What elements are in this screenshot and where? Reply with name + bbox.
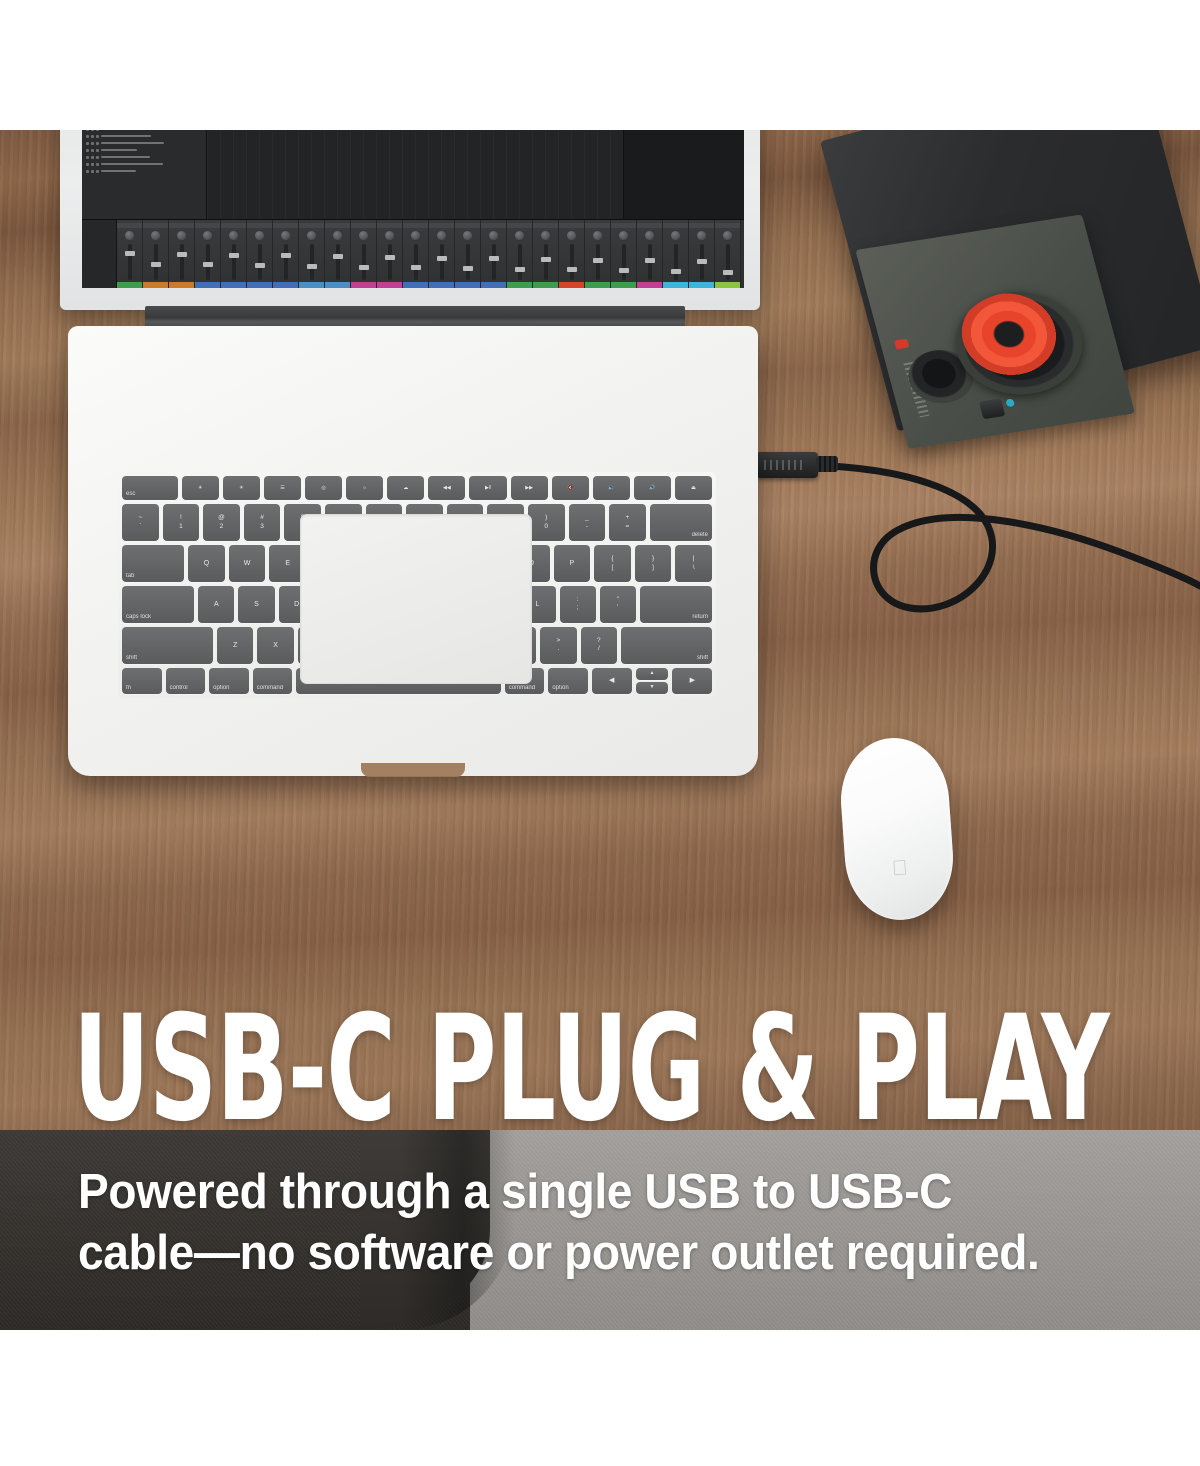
pan-knob[interactable] [463,231,472,240]
mouse-logo-icon:  [891,857,908,879]
keyboard-key-fn[interactable]: fn [122,668,162,694]
channel-label-bar [273,223,298,228]
daw-track-row[interactable] [84,140,204,146]
channel-label-bar [169,223,194,228]
daw-track-row[interactable] [84,161,204,167]
keyboard-key-w[interactable]: W [229,545,266,582]
fader-cap[interactable] [125,251,135,256]
pan-knob[interactable] [307,231,316,240]
volume-fader[interactable] [362,244,366,280]
keyboard-key-space[interactable]: _- [569,504,606,541]
keyboard-key-space[interactable]: |\ [675,545,712,582]
pan-knob[interactable] [255,231,264,240]
channel-label-bar [559,223,584,228]
mixer-channel-strip[interactable] [481,220,507,288]
channel-color-strip [533,282,558,288]
key-legend: {[ [611,555,613,573]
pan-knob[interactable] [177,231,186,240]
volume-fader[interactable] [310,244,314,280]
key-legend: >. [557,637,561,655]
keyboard-key-space[interactable]: ☀ [223,476,260,500]
pan-knob[interactable] [619,231,628,240]
fader-cap[interactable] [619,268,629,273]
fader-cap[interactable] [567,267,577,272]
volume-fader[interactable] [128,244,132,280]
mixer-channel-strip[interactable] [143,220,169,288]
keyboard-key-space[interactable]: ⏏ [675,476,712,500]
fader-cap[interactable] [541,257,551,262]
keyboard-key-option[interactable]: option [209,668,249,694]
daw-track-row[interactable] [84,147,204,153]
volume-fader[interactable] [388,244,392,280]
channel-color-strip [143,282,168,288]
volume-fader[interactable] [154,244,158,280]
laptop-screen [82,130,744,288]
channel-color-strip [611,282,636,288]
channel-color-strip [403,282,428,288]
fader-cap[interactable] [333,254,343,259]
key-legend: += [626,514,630,532]
fader-cap[interactable] [593,258,603,263]
fader-cap[interactable] [671,269,681,274]
key-legend: command [257,685,283,691]
keyboard-key-esc[interactable]: esc [122,476,178,500]
keyboard-key-0[interactable]: )0 [528,504,565,541]
key-legend: shift [697,655,708,661]
keyboard-key-space[interactable]: ◀◀ [428,476,465,500]
key-legend: "' [617,596,619,614]
mixer-channel-strip[interactable] [351,220,377,288]
channel-color-strip [195,282,220,288]
key-legend: delete [692,532,708,538]
keyboard-key-shift[interactable]: shift [122,627,213,664]
daw-notes-panel [623,130,744,219]
key-legend: !1 [179,514,183,532]
daw-track-row[interactable] [84,130,204,132]
fader-cap[interactable] [307,264,317,269]
keyboard-key-space[interactable]: ◎ [305,476,342,500]
key-legend: return [692,614,708,620]
key-legend: _- [585,514,589,532]
keyboard-key-command[interactable]: command [253,668,293,694]
keyboard-key-space[interactable]: 🔉 [593,476,630,500]
mixer-channel-strip[interactable] [429,220,455,288]
keyboard-key-shift[interactable]: shift [621,627,712,664]
fader-cap[interactable] [255,263,265,268]
volume-knob[interactable] [979,398,1006,419]
channel-color-strip [325,282,350,288]
laptop-lid [60,130,760,310]
keyboard-key-space[interactable]: ☼ [346,476,383,500]
key-legend: @2 [218,514,225,532]
mixer-channel-strip[interactable] [533,220,559,288]
channel-label-bar [377,223,402,228]
mixer-channel-strip[interactable] [169,220,195,288]
pan-knob[interactable] [385,231,394,240]
pan-knob[interactable] [541,231,550,240]
keyboard-key-delete[interactable]: delete [650,504,712,541]
daw-track-row[interactable] [84,133,204,139]
keyboard-key-space[interactable]: {[ [594,545,631,582]
pan-knob[interactable] [203,231,212,240]
pan-knob[interactable] [229,231,238,240]
pan-knob[interactable] [333,231,342,240]
key-legend: fn [126,685,131,691]
channel-color-strip [429,282,454,288]
pan-knob[interactable] [359,231,368,240]
volume-fader[interactable] [726,244,730,280]
keyboard-key-space[interactable]: ☀ [182,476,219,500]
fader-cap[interactable] [411,265,421,270]
channel-label-bar [117,223,142,228]
key-legend: control [170,685,188,691]
channel-label-bar [533,223,558,228]
fader-cap[interactable] [437,256,447,261]
mixer-channel-strip[interactable] [403,220,429,288]
pan-knob[interactable] [567,231,576,240]
pan-knob[interactable] [151,231,160,240]
keyboard-key-space[interactable]: ▶ [672,668,712,694]
mixer-channel-strip[interactable] [689,220,715,288]
channel-color-strip [351,282,376,288]
channel-color-strip [299,282,324,288]
pan-knob[interactable] [281,231,290,240]
volume-fader[interactable] [596,244,600,280]
mixer-channel-strip[interactable] [611,220,637,288]
fader-cap[interactable] [489,256,499,261]
power-led-icon [894,339,909,350]
keyboard-key-space[interactable]: ?/ [581,627,617,664]
volume-fader[interactable] [440,244,444,280]
channel-label-bar [585,223,610,228]
mixer-channel-strip[interactable] [455,220,481,288]
channel-label-bar [611,223,636,228]
daw-mixer[interactable] [82,219,744,288]
keyboard-key-2[interactable]: @2 [203,504,240,541]
keyboard-key-x[interactable]: X [257,627,293,664]
usb-c-cable [720,430,1200,670]
fader-cap[interactable] [515,267,525,272]
mixer-channel-strip[interactable] [637,220,663,288]
key-legend: caps lock [126,614,151,620]
headline: USB-C PLUG & PLAY [73,996,836,1142]
volume-fader[interactable] [648,244,652,280]
channel-label-bar [351,223,376,228]
channel-color-strip [247,282,272,288]
daw-application [82,130,744,288]
daw-track-row[interactable] [84,168,204,174]
keyboard-key-space[interactable]: "' [600,586,636,623]
daw-track-list[interactable] [82,130,207,219]
channel-color-strip [689,282,714,288]
key-legend: }] [652,555,654,573]
keyboard-key-space[interactable]: 🔇 [552,476,589,500]
keyboard-key-caps-lock[interactable]: caps lock [122,586,194,623]
channel-color-strip [637,282,662,288]
keyboard-key-space[interactable]: += [609,504,646,541]
channel-label-bar [455,223,480,228]
keyboard-key-down[interactable]: ▼ [636,682,669,694]
subtitle-line-1: Powered through a single USB to USB-C [78,1162,1121,1223]
key-legend: ?/ [597,637,601,655]
channel-label-bar [689,223,714,228]
channel-color-strip [559,282,584,288]
pan-knob[interactable] [125,231,134,240]
keyboard-key-return[interactable]: return [640,586,712,623]
keyboard-key-3[interactable]: #3 [244,504,281,541]
volume-fader[interactable] [258,244,262,280]
channel-label-bar [299,223,324,228]
keyboard-key-option[interactable]: option [548,668,588,694]
keyboard-key-a[interactable]: A [198,586,234,623]
channel-color-strip [273,282,298,288]
key-legend: |\ [693,555,695,573]
arrow-key-column: ▲▼ [636,668,669,694]
laptop-deck: esc☀☀☰◎☼☁◀◀▶‖▶▶🔇🔉🔊⏏~`!1@2#3$4%5^6&7*8(9)… [68,326,758,776]
channel-color-strip [221,282,246,288]
volume-fader[interactable] [674,244,678,280]
channel-label-bar [195,223,220,228]
key-legend: command [509,685,535,691]
channel-color-strip [585,282,610,288]
daw-arrange-window[interactable] [207,130,623,219]
pan-knob[interactable] [489,231,498,240]
channel-color-strip [455,282,480,288]
fader-cap[interactable] [385,255,395,260]
volume-fader[interactable] [180,244,184,280]
pan-knob[interactable] [723,231,732,240]
mixer-channel-strip[interactable] [299,220,325,288]
keyboard-key-q[interactable]: Q [188,545,225,582]
volume-fader[interactable] [518,244,522,280]
channel-color-strip [169,282,194,288]
keyboard-key-space[interactable]: }] [635,545,672,582]
key-legend: )0 [544,514,548,532]
mixer-channel-strip[interactable] [715,220,741,288]
mixer-channel-strip[interactable] [507,220,533,288]
volume-fader[interactable] [414,244,418,280]
fader-cap[interactable] [463,266,473,271]
channel-color-strip [663,282,688,288]
daw-track-row[interactable] [84,154,204,160]
keyboard-key-tab[interactable]: tab [122,545,184,582]
mixer-channel-strip[interactable] [377,220,403,288]
volume-fader[interactable] [284,244,288,280]
keyboard-key-space[interactable]: 🔊 [634,476,671,500]
channel-label-bar [507,223,532,228]
keyboard-key-space[interactable]: ◀ [592,668,632,694]
volume-fader[interactable] [700,244,704,280]
keyboard-key-space[interactable]: :; [560,586,596,623]
channel-label-bar [481,223,506,228]
channel-label-bar [715,223,740,228]
pan-knob[interactable] [411,231,420,240]
channel-label-bar [247,223,272,228]
channel-color-strip [715,282,740,288]
keyboard-key-s[interactable]: S [238,586,274,623]
keyboard-key-space[interactable]: ☰ [264,476,301,500]
channel-label-bar [325,223,350,228]
keyboard-key-p[interactable]: P [554,545,591,582]
key-legend: option [213,685,229,691]
volume-fader[interactable] [232,244,236,280]
volume-fader[interactable] [570,244,574,280]
key-legend: shift [126,655,137,661]
volume-fader[interactable] [622,244,626,280]
mixer-channel-strip[interactable] [663,220,689,288]
fader-cap[interactable] [359,265,369,270]
keyboard-key-space[interactable]: ☁ [387,476,424,500]
mixer-channel-strip[interactable] [273,220,299,288]
volume-fader[interactable] [492,244,496,280]
channel-label-bar [637,223,662,228]
subtitle-line-2: cable—no software or power outlet requir… [78,1223,1121,1284]
channel-color-strip [481,282,506,288]
keyboard-key-z[interactable]: Z [217,627,253,664]
channel-label-bar [403,223,428,228]
fader-cap[interactable] [177,252,187,257]
volume-fader[interactable] [336,244,340,280]
mixer-channel-strip[interactable] [585,220,611,288]
key-legend: :; [577,596,579,614]
mixer-channel-strip[interactable] [221,220,247,288]
deck-front-notch [361,763,465,777]
key-legend: esc [126,491,135,497]
channel-label-bar [663,223,688,228]
fader-cap[interactable] [645,258,655,263]
keyboard-key-1[interactable]: !1 [163,504,200,541]
key-legend: #3 [260,514,264,532]
fader-cap[interactable] [723,270,733,275]
channel-color-strip [117,282,142,288]
pan-knob[interactable] [593,231,602,240]
keyboard-key-space[interactable]: >. [540,627,576,664]
channel-label-bar [221,223,246,228]
keyboard-row: esc☀☀☰◎☼☁◀◀▶‖▶▶🔇🔉🔊⏏ [122,476,712,500]
mixer-master-strip[interactable] [82,220,117,288]
pan-knob[interactable] [671,231,680,240]
fader-cap[interactable] [281,253,291,258]
mixer-channel-strip[interactable] [247,220,273,288]
fader-cap[interactable] [697,259,707,264]
bluetooth-indicator-icon [1005,398,1015,407]
mixer-channel-strip[interactable] [559,220,585,288]
mixer-channel-strip[interactable] [325,220,351,288]
keyboard-key-control[interactable]: control [166,668,206,694]
subtitle: Powered through a single USB to USB-C ca… [78,1162,1121,1284]
pan-knob[interactable] [697,231,706,240]
laptop: esc☀☀☰◎☼☁◀◀▶‖▶▶🔇🔉🔊⏏~`!1@2#3$4%5^6&7*8(9)… [0,130,780,810]
fader-cap[interactable] [203,262,213,267]
keyboard-key-space[interactable]: ▶▶ [511,476,548,500]
channel-label-bar [429,223,454,228]
laptop-trackpad[interactable] [300,514,532,684]
key-legend: option [552,685,568,691]
mixer-channel-strip[interactable] [195,220,221,288]
fader-cap[interactable] [151,262,161,267]
channel-color-strip [377,282,402,288]
key-legend: tab [126,573,134,579]
keyboard-key-space[interactable]: ▶‖ [469,476,506,500]
pan-knob[interactable] [515,231,524,240]
fader-cap[interactable] [229,253,239,258]
mixer-channel-strip[interactable] [117,220,143,288]
marketing-image: esc☀☀☰◎☼☁◀◀▶‖▶▶🔇🔉🔊⏏~`!1@2#3$4%5^6&7*8(9)… [0,0,1200,1466]
key-legend: ~` [138,514,142,532]
cable-strain-relief [816,456,838,472]
channel-color-strip [507,282,532,288]
pan-knob[interactable] [437,231,446,240]
volume-fader[interactable] [466,244,470,280]
channel-label-bar [143,223,168,228]
pan-knob[interactable] [645,231,654,240]
keyboard-key-space[interactable]: ~` [122,504,159,541]
volume-fader[interactable] [544,244,548,280]
keyboard-key-up[interactable]: ▲ [636,668,669,680]
volume-fader[interactable] [206,244,210,280]
